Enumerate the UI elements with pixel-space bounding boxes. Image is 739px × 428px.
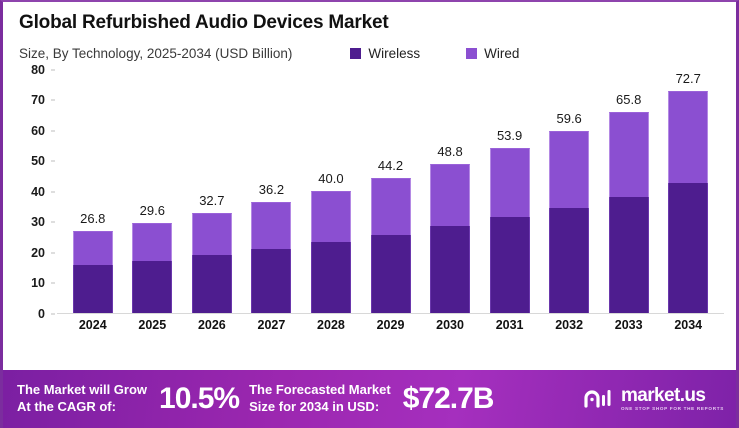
brand-logo[interactable]: market.us ONE STOP SHOP FOR THE REPORTS bbox=[584, 386, 724, 413]
forecast-label-line2: Size for 2034 in USD: bbox=[249, 399, 391, 416]
legend-label: Wireless bbox=[368, 46, 420, 61]
bar-segment-wireless[interactable] bbox=[73, 265, 113, 313]
bar-series-container: 26.829.632.736.240.044.248.853.959.665.8… bbox=[57, 70, 724, 313]
bar-group[interactable]: 48.8 bbox=[420, 70, 480, 313]
bar-total-label: 48.8 bbox=[437, 144, 462, 159]
legend-label: Wired bbox=[484, 46, 519, 61]
bar-segment-wireless[interactable] bbox=[192, 255, 232, 313]
y-axis-tick-label: 0 bbox=[38, 307, 45, 321]
y-axis-tick-mark bbox=[51, 191, 55, 192]
cagr-label-line1: The Market will Grow bbox=[17, 382, 147, 399]
bar-group[interactable]: 26.8 bbox=[63, 70, 123, 313]
brand-tagline: ONE STOP SHOP FOR THE REPORTS bbox=[621, 407, 724, 412]
cagr-label: The Market will Grow At the CAGR of: bbox=[17, 382, 147, 415]
y-axis-tick-mark bbox=[51, 222, 55, 223]
stacked-bar[interactable]: 29.6 bbox=[132, 223, 172, 313]
chart-legend: WirelessWired bbox=[350, 46, 519, 61]
bar-segment-wired[interactable] bbox=[192, 213, 232, 255]
x-axis-tick-label: 2030 bbox=[420, 318, 480, 332]
bar-segment-wired[interactable] bbox=[371, 178, 411, 235]
bar-segment-wired[interactable] bbox=[73, 231, 113, 265]
x-axis-tick-label: 2026 bbox=[182, 318, 242, 332]
bar-group[interactable]: 44.2 bbox=[361, 70, 421, 313]
chart-plot-wrapper: 01020304050607080 26.829.632.736.240.044… bbox=[17, 70, 724, 342]
bar-segment-wireless[interactable] bbox=[430, 226, 470, 313]
y-axis-tick-mark bbox=[51, 161, 55, 162]
bar-segment-wired[interactable] bbox=[132, 223, 172, 261]
legend-item[interactable]: Wired bbox=[466, 46, 519, 61]
y-axis-tick-label: 10 bbox=[31, 276, 45, 290]
bar-segment-wired[interactable] bbox=[311, 191, 351, 243]
y-axis-tick-mark bbox=[51, 130, 55, 131]
stacked-bar[interactable]: 26.8 bbox=[73, 231, 113, 313]
x-axis-tick-label: 2024 bbox=[63, 318, 123, 332]
x-axis-tick-label: 2029 bbox=[361, 318, 421, 332]
bar-total-label: 44.2 bbox=[378, 158, 403, 173]
bar-total-label: 59.6 bbox=[556, 111, 581, 126]
bar-segment-wireless[interactable] bbox=[251, 249, 291, 313]
y-axis: 01020304050607080 bbox=[17, 70, 51, 314]
forecast-label: The Forecasted Market Size for 2034 in U… bbox=[249, 382, 391, 415]
legend-swatch-wired bbox=[466, 48, 477, 59]
bar-segment-wireless[interactable] bbox=[132, 261, 172, 313]
cagr-label-line2: At the CAGR of: bbox=[17, 399, 147, 416]
stacked-bar[interactable]: 72.7 bbox=[668, 91, 708, 313]
subtitle-legend-row: Size, By Technology, 2025-2034 (USD Bill… bbox=[19, 44, 720, 64]
market-us-logo-icon bbox=[584, 386, 614, 413]
footer-banner: The Market will Grow At the CAGR of: 10.… bbox=[3, 370, 736, 428]
forecast-value: $72.7B bbox=[403, 382, 494, 416]
y-axis-tick-label: 70 bbox=[31, 93, 45, 107]
bar-total-label: 32.7 bbox=[199, 193, 224, 208]
y-axis-tick-label: 40 bbox=[31, 185, 45, 199]
stacked-bar[interactable]: 32.7 bbox=[192, 213, 232, 313]
bar-segment-wired[interactable] bbox=[609, 112, 649, 196]
bar-group[interactable]: 53.9 bbox=[480, 70, 540, 313]
bar-segment-wireless[interactable] bbox=[549, 208, 589, 313]
y-axis-tick-label: 80 bbox=[31, 63, 45, 77]
stacked-bar[interactable]: 65.8 bbox=[609, 112, 649, 313]
brand-text: market.us ONE STOP SHOP FOR THE REPORTS bbox=[621, 386, 724, 412]
bar-group[interactable]: 29.6 bbox=[123, 70, 183, 313]
stacked-bar[interactable]: 44.2 bbox=[371, 178, 411, 313]
chart-subtitle: Size, By Technology, 2025-2034 (USD Bill… bbox=[19, 46, 292, 61]
chart-header: Global Refurbished Audio Devices Market … bbox=[3, 2, 736, 64]
bar-segment-wireless[interactable] bbox=[490, 217, 530, 313]
y-axis-tick-mark bbox=[51, 283, 55, 284]
stacked-bar[interactable]: 59.6 bbox=[549, 131, 589, 313]
brand-name: market.us bbox=[621, 386, 724, 405]
y-axis-tick-mark bbox=[51, 313, 55, 314]
x-axis-tick-label: 2033 bbox=[599, 318, 659, 332]
bar-group[interactable]: 72.7 bbox=[658, 70, 718, 313]
x-axis: 2024202520262027202820292030203120322033… bbox=[57, 318, 724, 332]
y-axis-tick-label: 50 bbox=[31, 154, 45, 168]
bar-segment-wireless[interactable] bbox=[668, 183, 708, 313]
bar-segment-wired[interactable] bbox=[549, 131, 589, 208]
bar-group[interactable]: 59.6 bbox=[539, 70, 599, 313]
bar-segment-wired[interactable] bbox=[430, 164, 470, 226]
bar-segment-wired[interactable] bbox=[668, 91, 708, 183]
y-axis-tick-label: 60 bbox=[31, 124, 45, 138]
plot-area: 26.829.632.736.240.044.248.853.959.665.8… bbox=[57, 70, 724, 314]
bar-segment-wireless[interactable] bbox=[311, 242, 351, 312]
page-title: Global Refurbished Audio Devices Market bbox=[19, 12, 720, 35]
bar-segment-wired[interactable] bbox=[490, 148, 530, 217]
market-infographic: Global Refurbished Audio Devices Market … bbox=[0, 0, 739, 428]
bar-total-label: 36.2 bbox=[259, 182, 284, 197]
bar-total-label: 40.0 bbox=[318, 171, 343, 186]
bar-total-label: 72.7 bbox=[676, 71, 701, 86]
stacked-bar[interactable]: 53.9 bbox=[490, 148, 530, 312]
forecast-label-line1: The Forecasted Market bbox=[249, 382, 391, 399]
bar-total-label: 26.8 bbox=[80, 211, 105, 226]
legend-item[interactable]: Wireless bbox=[350, 46, 420, 61]
stacked-bar[interactable]: 36.2 bbox=[251, 202, 291, 312]
bar-group[interactable]: 32.7 bbox=[182, 70, 242, 313]
bar-total-label: 29.6 bbox=[140, 203, 165, 218]
y-axis-tick-mark bbox=[51, 100, 55, 101]
bar-segment-wired[interactable] bbox=[251, 202, 291, 249]
stacked-bar[interactable]: 48.8 bbox=[430, 164, 470, 313]
bar-total-label: 65.8 bbox=[616, 92, 641, 107]
x-axis-tick-label: 2028 bbox=[301, 318, 361, 332]
bar-total-label: 53.9 bbox=[497, 128, 522, 143]
stacked-bar[interactable]: 40.0 bbox=[311, 191, 351, 313]
bar-group[interactable]: 65.8 bbox=[599, 70, 659, 313]
y-axis-tick-label: 30 bbox=[31, 215, 45, 229]
x-axis-tick-label: 2034 bbox=[658, 318, 718, 332]
x-axis-tick-label: 2032 bbox=[539, 318, 599, 332]
y-axis-tick-mark bbox=[51, 252, 55, 253]
bar-group[interactable]: 40.0 bbox=[301, 70, 361, 313]
cagr-value: 10.5% bbox=[159, 382, 239, 416]
bar-segment-wireless[interactable] bbox=[371, 235, 411, 312]
x-axis-tick-label: 2025 bbox=[123, 318, 183, 332]
bar-segment-wireless[interactable] bbox=[609, 197, 649, 313]
y-axis-tick-mark bbox=[51, 69, 55, 70]
bar-group[interactable]: 36.2 bbox=[242, 70, 302, 313]
y-axis-tick-label: 20 bbox=[31, 246, 45, 260]
x-axis-tick-label: 2031 bbox=[480, 318, 540, 332]
legend-swatch-wireless bbox=[350, 48, 361, 59]
x-axis-tick-label: 2027 bbox=[242, 318, 302, 332]
